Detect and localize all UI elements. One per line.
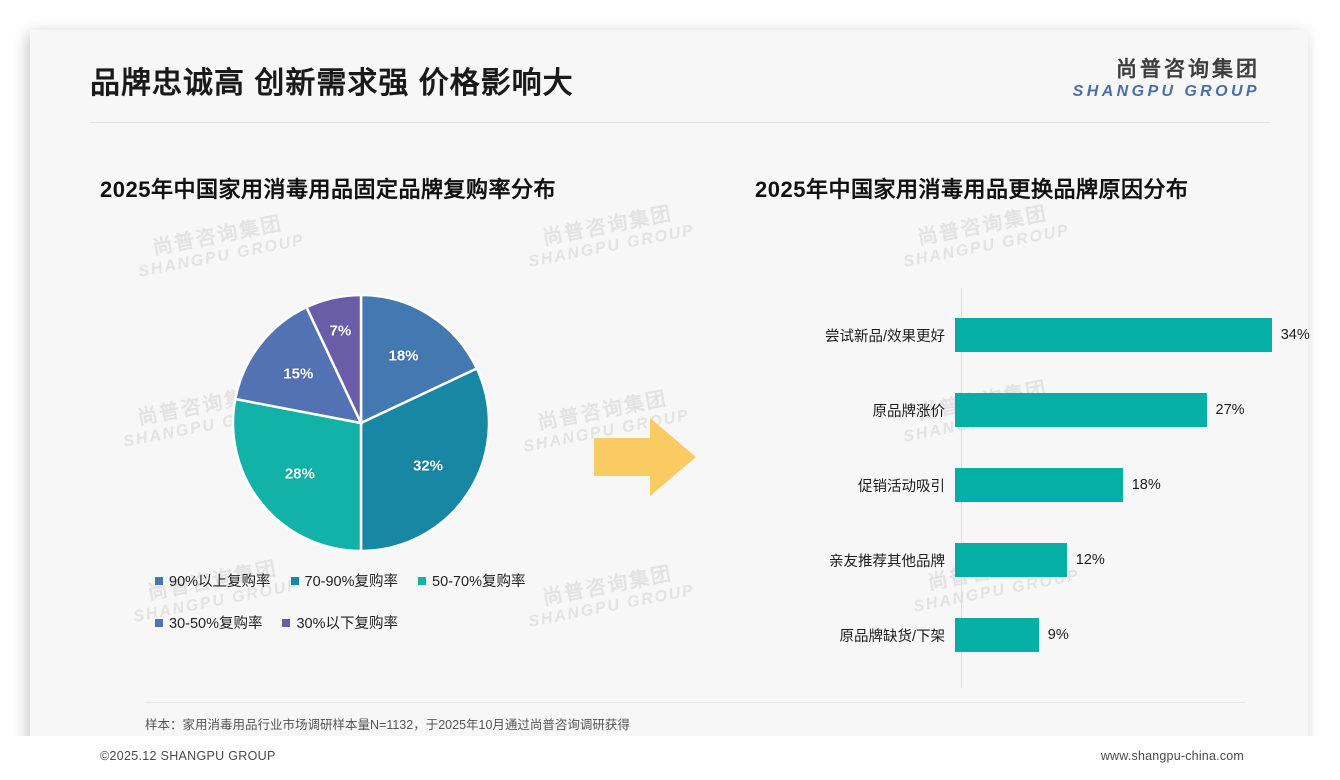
bar-chart-row: 尝试新品/效果更好34% — [755, 318, 1315, 352]
watermark: 尚普咨询集团 SHANGPU GROUP — [898, 199, 1072, 272]
bar-track: 34% — [955, 318, 1315, 352]
bar-fill[interactable] — [955, 468, 1123, 502]
bar-category-label: 原品牌涨价 — [755, 400, 955, 421]
bar-chart-row: 原品牌涨价27% — [755, 393, 1315, 427]
source-divider — [145, 702, 1245, 703]
watermark: 尚普咨询集团 SHANGPU GROUP — [133, 209, 307, 282]
bar-category-label: 促销活动吸引 — [755, 475, 955, 496]
watermark-cn: 尚普咨询集团 — [523, 199, 693, 254]
watermark: 尚普咨询集团 SHANGPU GROUP — [523, 199, 697, 272]
pie-slice-label: 18% — [389, 347, 419, 364]
bar-fill[interactable] — [955, 318, 1272, 352]
header-divider — [90, 122, 1270, 123]
logo-text-cn: 尚普咨询集团 — [1073, 58, 1260, 82]
bar-chart-row: 原品牌缺货/下架9% — [755, 618, 1315, 652]
bar-fill[interactable] — [955, 393, 1207, 427]
pie-legend-row: 30-50%复购率30%以下复购率 — [155, 612, 605, 633]
pie-slice-label: 15% — [283, 366, 313, 383]
watermark-en: SHANGPU GROUP — [137, 232, 307, 282]
pie-legend-item[interactable]: 30-50%复购率 — [155, 612, 262, 633]
source-note: 样本：家用消毒用品行业市场调研样本量N=1132，于2025年10月通过尚普咨询… — [145, 714, 630, 733]
bar-value-label: 12% — [1076, 552, 1105, 568]
pie-slice-label: 28% — [285, 465, 315, 482]
bar-track: 27% — [955, 393, 1315, 427]
pie-chart: 18%32%28%15%7% — [226, 295, 496, 551]
legend-swatch — [155, 619, 163, 627]
bar-fill[interactable] — [955, 618, 1039, 652]
bar-value-label: 9% — [1048, 627, 1069, 643]
pie-legend-item[interactable]: 30%以下复购率 — [282, 612, 398, 633]
watermark-en: SHANGPU GROUP — [527, 222, 697, 272]
legend-swatch — [291, 577, 299, 585]
slide-root: 尚普咨询集团 SHANGPU GROUP 尚普咨询集团 SHANGPU GROU… — [0, 0, 1340, 780]
bar-chart-row: 亲友推荐其他品牌12% — [755, 543, 1315, 577]
bar-track: 18% — [955, 468, 1315, 502]
slide-header: 品牌忠诚高 创新需求强 价格影响大 尚普咨询集团 SHANGPU GROUP — [30, 30, 1308, 120]
pie-legend-row: 90%以上复购率70-90%复购率50-70%复购率 — [155, 570, 605, 591]
legend-label: 90%以上复购率 — [169, 570, 271, 591]
pie-legend-item[interactable]: 70-90%复购率 — [291, 570, 398, 591]
legend-swatch — [282, 619, 290, 627]
legend-label: 50-70%复购率 — [432, 570, 525, 591]
watermark-cn: 尚普咨询集团 — [898, 199, 1068, 254]
slide-card: 尚普咨询集团 SHANGPU GROUP 尚普咨询集团 SHANGPU GROU… — [30, 30, 1308, 748]
bar-chart-title: 2025年中国家用消毒用品更换品牌原因分布 — [755, 172, 1188, 204]
pie-legend-item[interactable]: 90%以上复购率 — [155, 570, 271, 591]
pie-slice-label: 7% — [329, 322, 351, 339]
bar-value-label: 18% — [1132, 477, 1161, 493]
pie-slice-label: 32% — [413, 457, 443, 474]
brand-logo: 尚普咨询集团 SHANGPU GROUP — [1073, 58, 1260, 102]
bar-value-label: 34% — [1281, 327, 1310, 343]
legend-swatch — [155, 577, 163, 585]
bar-track: 9% — [955, 618, 1315, 652]
legend-label: 30%以下复购率 — [296, 612, 398, 633]
bar-value-label: 27% — [1216, 402, 1245, 418]
slide-footer: ©2025.12 SHANGPU GROUP www.shangpu-china… — [0, 736, 1340, 780]
bar-category-label: 原品牌缺货/下架 — [755, 625, 955, 646]
bar-track: 12% — [955, 543, 1315, 577]
copyright-text: ©2025.12 SHANGPU GROUP — [100, 749, 276, 763]
arrow-right-icon — [590, 412, 700, 502]
page-title: 品牌忠诚高 创新需求强 价格影响大 — [90, 58, 574, 102]
bar-fill[interactable] — [955, 543, 1067, 577]
legend-label: 70-90%复购率 — [305, 570, 398, 591]
bar-category-label: 尝试新品/效果更好 — [755, 325, 955, 346]
pie-legend: 90%以上复购率70-90%复购率50-70%复购率 30-50%复购率30%以… — [155, 570, 605, 654]
legend-swatch — [418, 577, 426, 585]
pie-chart-svg — [226, 295, 496, 551]
watermark-en: SHANGPU GROUP — [902, 222, 1072, 272]
pie-legend-item[interactable]: 50-70%复购率 — [418, 570, 525, 591]
pie-chart-title: 2025年中国家用消毒用品固定品牌复购率分布 — [100, 172, 556, 204]
watermark-cn: 尚普咨询集团 — [133, 209, 303, 264]
bar-category-label: 亲友推荐其他品牌 — [755, 550, 955, 571]
website-link[interactable]: www.shangpu-china.com — [1101, 749, 1244, 763]
logo-text-en: SHANGPU GROUP — [1073, 82, 1260, 102]
legend-label: 30-50%复购率 — [169, 612, 262, 633]
bar-chart: 尝试新品/效果更好34%原品牌涨价27%促销活动吸引18%亲友推荐其他品牌12%… — [755, 288, 1315, 688]
bar-chart-row: 促销活动吸引18% — [755, 468, 1315, 502]
flow-arrow — [590, 412, 700, 502]
